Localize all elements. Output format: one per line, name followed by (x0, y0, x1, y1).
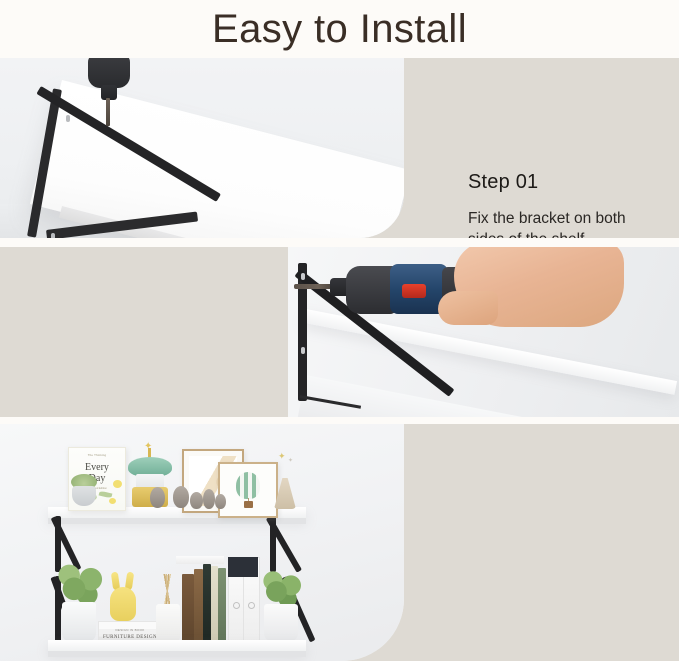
hot-air-balloon-illustration (236, 472, 260, 499)
step-03-panel: The Thinking Every Day Illustrated Editi… (0, 424, 679, 661)
hot-air-balloon-frame (218, 462, 278, 518)
pebble-figurine (215, 494, 226, 509)
pebble-figurine (173, 486, 189, 508)
bracket-screw-hole (51, 233, 55, 238)
shelf-book (211, 566, 218, 642)
step-01-text-block: Step 01 Fix the bracket on both sides of… (468, 171, 668, 238)
potted-plant-left (50, 560, 110, 608)
step-02-panel: Step 02 Drill long screws into the wall … (0, 247, 679, 417)
lower-shelf-board (48, 640, 306, 651)
balloon-basket (244, 501, 253, 508)
drill-bit-icon (106, 98, 110, 126)
pebble-figurine (190, 492, 203, 509)
leaf-illustration (99, 491, 113, 499)
lemon-illustration (113, 480, 122, 488)
bracket-screw-hole (301, 273, 305, 280)
lower-shelf-edge (48, 651, 306, 657)
drill-trigger-icon (402, 284, 426, 298)
infographic-page: Easy to Install Step 01 Fix the bracket … (0, 0, 679, 661)
bracket-screw-hole (301, 347, 305, 354)
drill-bit-icon (294, 284, 334, 289)
sparkle-icon: ✦ (288, 458, 293, 464)
step-02-photo (288, 247, 679, 417)
succulent-pot (72, 486, 96, 506)
page-title: Easy to Install (212, 9, 467, 49)
horizontal-book (176, 556, 224, 564)
sparkle-icon: ✦ (278, 452, 286, 461)
shelf-book (203, 564, 211, 642)
bunny-figurine (110, 587, 136, 621)
drill-body (88, 58, 130, 88)
step-01-body: Fix the bracket on both sides of the she… (468, 208, 668, 238)
thumb (438, 291, 498, 325)
book-top-text: The Thinking (69, 453, 125, 457)
lemon-illustration (109, 498, 116, 504)
page-title-bar: Easy to Install (0, 0, 679, 58)
stacked-book-top-text: DESIGN IN BOOK (99, 628, 161, 632)
bracket-screw-hole (66, 115, 70, 122)
shelf-book (194, 569, 203, 642)
step-01-heading: Step 01 (468, 171, 668, 194)
pebble-figurine (203, 489, 215, 509)
shelf-book (218, 568, 226, 642)
shelf-book (182, 574, 194, 642)
binder-label (228, 557, 243, 577)
pencils (152, 574, 184, 608)
plant-pot-right (264, 604, 298, 642)
binder-ring-icon (233, 602, 240, 609)
step-01-panel: Step 01 Fix the bracket on both sides of… (0, 58, 679, 238)
pencil-cup (156, 604, 180, 642)
plant-pot-left (62, 602, 96, 642)
pebble-figurine (150, 487, 165, 508)
step-01-photo (0, 58, 404, 238)
step-03-photo: The Thinking Every Day Illustrated Editi… (0, 424, 404, 661)
